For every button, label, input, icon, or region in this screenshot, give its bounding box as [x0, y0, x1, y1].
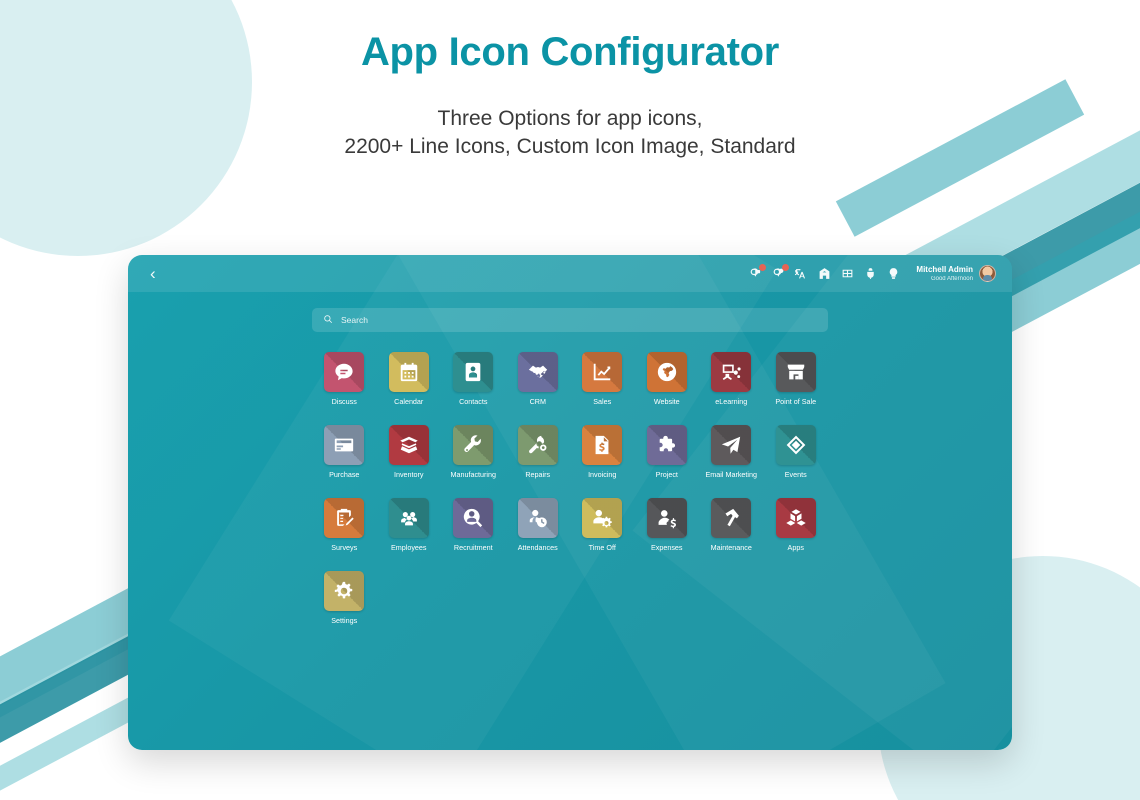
app-tile-elearning[interactable]: eLearning [699, 352, 763, 406]
app-label: Calendar [394, 397, 423, 406]
app-label: Purchase [329, 470, 359, 479]
app-label: Project [656, 470, 678, 479]
globe-icon[interactable] [647, 352, 687, 392]
app-label: Expenses [651, 543, 683, 552]
puzzle-icon[interactable] [647, 425, 687, 465]
subtitle-line-2: 2200+ Line Icons, Custom Icon Image, Sta… [0, 133, 1140, 161]
app-tile-crm[interactable]: CRM [506, 352, 570, 406]
app-tile-repairs[interactable]: Repairs [506, 425, 570, 479]
app-label: Surveys [331, 543, 357, 552]
app-window: ‹ [128, 255, 1012, 750]
app-tile-point-of-sale[interactable]: Point of Sale [764, 352, 828, 406]
apps-grid-icon[interactable] [841, 267, 854, 280]
avatar[interactable] [979, 265, 996, 282]
ticket-icon[interactable] [776, 425, 816, 465]
person-clock-icon[interactable] [518, 498, 558, 538]
storefront-icon[interactable] [776, 352, 816, 392]
app-tile-project[interactable]: Project [635, 425, 699, 479]
user-text: Mitchell Admin Good Afternoon [916, 265, 973, 283]
invoice-icon[interactable] [582, 425, 622, 465]
person-dollar-icon[interactable] [647, 498, 687, 538]
app-tile-employees[interactable]: Employees [377, 498, 441, 552]
app-label: Website [654, 397, 680, 406]
app-tile-manufacturing[interactable]: Manufacturing [441, 425, 505, 479]
activity-badge [782, 264, 789, 271]
app-label: Sales [593, 397, 611, 406]
search-person-icon[interactable] [453, 498, 493, 538]
search-input[interactable]: Search [312, 308, 828, 332]
app-tile-recruitment[interactable]: Recruitment [441, 498, 505, 552]
topbar-icon-group: Mitchell Admin Good Afternoon [749, 265, 996, 283]
subtitle-line-1: Three Options for app icons, [0, 105, 1140, 133]
credit-card-icon[interactable] [324, 425, 364, 465]
gear-icon[interactable] [324, 571, 364, 611]
app-label: Repairs [525, 470, 550, 479]
app-label: Time Off [589, 543, 616, 552]
app-label: Email Marketing [705, 470, 757, 479]
presentation-icon[interactable] [711, 352, 751, 392]
handshake-icon[interactable] [518, 352, 558, 392]
paper-plane-icon[interactable] [711, 425, 751, 465]
app-tile-expenses[interactable]: Expenses [635, 498, 699, 552]
search-area: Search [128, 292, 1012, 332]
app-label: Discuss [332, 397, 357, 406]
app-tile-maintenance[interactable]: Maintenance [699, 498, 763, 552]
app-tile-inventory[interactable]: Inventory [377, 425, 441, 479]
app-label: Invoicing [588, 470, 616, 479]
app-tile-attendances[interactable]: Attendances [506, 498, 570, 552]
search-icon [323, 311, 333, 329]
open-box-icon[interactable] [389, 425, 429, 465]
app-tile-calendar[interactable]: Calendar [377, 352, 441, 406]
contact-card-icon[interactable] [453, 352, 493, 392]
back-button[interactable]: ‹ [144, 263, 162, 284]
page-title: App Icon Configurator [0, 30, 1140, 75]
app-tile-apps[interactable]: Apps [764, 498, 828, 552]
app-tile-settings[interactable]: Settings [312, 571, 376, 625]
app-label: Manufacturing [450, 470, 496, 479]
app-tile-sales[interactable]: Sales [570, 352, 634, 406]
translate-icon[interactable] [795, 267, 808, 280]
chat-icon[interactable] [749, 267, 762, 280]
bug-icon[interactable] [864, 267, 877, 280]
people-icon[interactable] [389, 498, 429, 538]
page-subtitle: Three Options for app icons, 2200+ Line … [0, 105, 1140, 161]
promo-page: App Icon Configurator Three Options for … [0, 0, 1140, 800]
app-grid: DiscussCalendarContactsCRMSalesWebsiteeL… [312, 352, 828, 625]
calendar-icon[interactable] [389, 352, 429, 392]
app-label: Point of Sale [775, 397, 816, 406]
app-tile-purchase[interactable]: Purchase [312, 425, 376, 479]
app-tile-website[interactable]: Website [635, 352, 699, 406]
user-name: Mitchell Admin [916, 265, 973, 275]
app-label: Recruitment [454, 543, 493, 552]
app-tile-discuss[interactable]: Discuss [312, 352, 376, 406]
hammer-icon[interactable] [711, 498, 751, 538]
app-label: Settings [331, 616, 357, 625]
person-gear-icon[interactable] [582, 498, 622, 538]
company-icon[interactable] [818, 267, 831, 280]
app-tile-email-marketing[interactable]: Email Marketing [699, 425, 763, 479]
app-tile-events[interactable]: Events [764, 425, 828, 479]
chat-badge [759, 264, 766, 271]
activity-icon[interactable] [772, 267, 785, 280]
search-placeholder: Search [341, 315, 368, 325]
app-tile-time-off[interactable]: Time Off [570, 498, 634, 552]
user-greeting: Good Afternoon [916, 275, 973, 283]
tip-bulb-icon[interactable] [887, 267, 900, 280]
app-label: Inventory [394, 470, 424, 479]
app-label: CRM [530, 397, 546, 406]
app-label: eLearning [715, 397, 747, 406]
app-label: Events [785, 470, 807, 479]
app-label: Contacts [459, 397, 487, 406]
app-label: Maintenance [711, 543, 752, 552]
speech-bubble-icon[interactable] [324, 352, 364, 392]
app-tile-invoicing[interactable]: Invoicing [570, 425, 634, 479]
app-label: Apps [788, 543, 804, 552]
clipboard-icon[interactable] [324, 498, 364, 538]
chart-up-icon[interactable] [582, 352, 622, 392]
app-label: Employees [391, 543, 427, 552]
app-tile-surveys[interactable]: Surveys [312, 498, 376, 552]
app-label: Attendances [518, 543, 558, 552]
blocks-icon[interactable] [776, 498, 816, 538]
app-tile-contacts[interactable]: Contacts [441, 352, 505, 406]
wrench-gear-icon[interactable] [518, 425, 558, 465]
user-menu[interactable]: Mitchell Admin Good Afternoon [916, 265, 996, 283]
wrench-icon[interactable] [453, 425, 493, 465]
window-topbar: ‹ [128, 255, 1012, 292]
